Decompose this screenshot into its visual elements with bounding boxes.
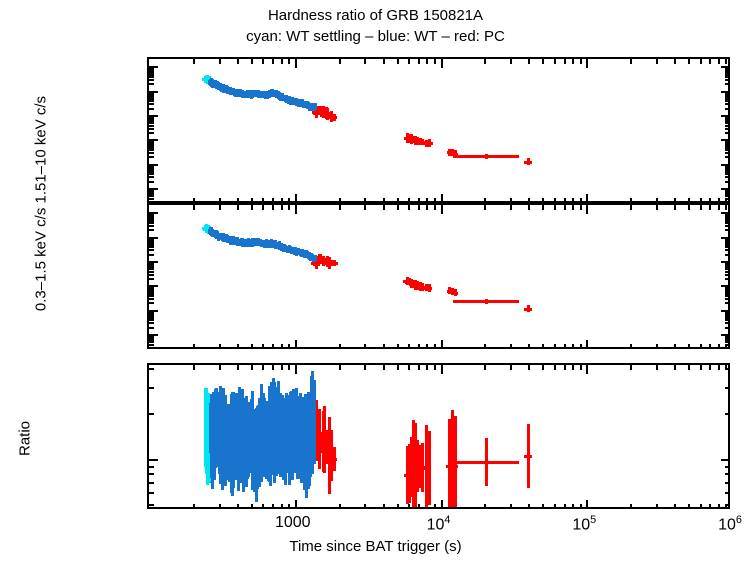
axis-tick bbox=[251, 504, 253, 509]
axis-tick bbox=[219, 344, 221, 349]
axis-tick bbox=[725, 338, 730, 340]
y-axis-label-counts: 0.3–1.5 keV c/s 1.51–10 keV c/s bbox=[33, 0, 50, 454]
axis-tick bbox=[237, 205, 239, 210]
x-tick-label: 105 bbox=[544, 515, 624, 533]
axis-tick bbox=[149, 152, 154, 154]
axis-tick bbox=[674, 59, 676, 64]
axis-tick bbox=[149, 492, 154, 494]
axis-tick bbox=[630, 205, 632, 210]
axis-tick bbox=[149, 341, 154, 343]
axis-tick bbox=[262, 344, 264, 349]
panel-hardness-ratio bbox=[147, 363, 730, 509]
axis-tick bbox=[339, 59, 341, 64]
axis-tick bbox=[554, 59, 556, 64]
axis-tick bbox=[272, 59, 274, 64]
axis-tick bbox=[725, 225, 730, 227]
axis-tick bbox=[426, 205, 428, 210]
axis-tick bbox=[149, 156, 154, 158]
axis-tick bbox=[408, 365, 410, 370]
axis-tick bbox=[149, 83, 154, 85]
axis-tick bbox=[149, 347, 154, 349]
axis-tick bbox=[441, 500, 443, 509]
axis-tick bbox=[554, 205, 556, 210]
axis-tick bbox=[484, 59, 486, 64]
axis-tick bbox=[149, 413, 154, 415]
axis-tick bbox=[725, 176, 730, 178]
axis-tick bbox=[586, 205, 588, 214]
axis-tick bbox=[149, 298, 154, 300]
axis-tick bbox=[149, 195, 154, 197]
axis-tick bbox=[725, 317, 730, 319]
axis-tick bbox=[383, 205, 385, 210]
y-axis-label-ratio: Ratio bbox=[17, 349, 34, 529]
axis-tick bbox=[149, 271, 154, 273]
axis-tick bbox=[408, 344, 410, 349]
axis-tick bbox=[630, 365, 632, 370]
axis-tick bbox=[656, 205, 658, 210]
axis-tick bbox=[725, 98, 730, 100]
axis-tick bbox=[656, 59, 658, 64]
axis-tick bbox=[688, 365, 690, 370]
axis-tick bbox=[149, 387, 154, 389]
axis-tick bbox=[262, 205, 264, 210]
data-point bbox=[333, 447, 336, 471]
axis-tick bbox=[149, 145, 154, 147]
axis-tick bbox=[149, 149, 154, 151]
axis-tick bbox=[580, 59, 582, 64]
axis-tick bbox=[149, 338, 154, 340]
axis-tick bbox=[434, 205, 436, 210]
axis-tick bbox=[397, 504, 399, 509]
axis-tick bbox=[580, 365, 582, 370]
axis-tick bbox=[700, 365, 702, 370]
axis-tick bbox=[572, 59, 574, 64]
panel-hard-band bbox=[147, 57, 730, 203]
axis-tick bbox=[586, 59, 588, 68]
axis-tick bbox=[725, 59, 727, 64]
axis-tick bbox=[674, 344, 676, 349]
axis-tick bbox=[725, 147, 730, 149]
axis-tick bbox=[272, 365, 274, 370]
axis-tick bbox=[149, 218, 154, 220]
axis-tick bbox=[725, 274, 730, 276]
axis-tick bbox=[580, 344, 582, 349]
axis-tick bbox=[725, 322, 730, 324]
axis-tick bbox=[339, 344, 341, 349]
axis-tick bbox=[149, 147, 154, 149]
axis-tick bbox=[149, 212, 158, 214]
axis-tick bbox=[149, 327, 154, 329]
axis-tick bbox=[725, 142, 730, 144]
axis-tick bbox=[725, 74, 730, 76]
axis-tick bbox=[418, 205, 420, 210]
data-point bbox=[428, 284, 431, 291]
axis-tick bbox=[688, 205, 690, 210]
axis-tick bbox=[725, 220, 730, 222]
axis-tick bbox=[725, 341, 730, 343]
axis-tick bbox=[725, 327, 730, 329]
axis-tick bbox=[418, 344, 420, 349]
axis-tick bbox=[149, 115, 158, 117]
x-tick-label: 106 bbox=[690, 515, 751, 533]
data-point bbox=[428, 431, 431, 506]
axis-tick bbox=[721, 261, 730, 263]
axis-tick bbox=[510, 365, 512, 370]
axis-tick bbox=[700, 59, 702, 64]
axis-tick bbox=[725, 344, 730, 346]
axis-tick bbox=[721, 164, 730, 166]
axis-tick bbox=[237, 365, 239, 370]
axis-tick bbox=[426, 59, 428, 64]
axis-tick bbox=[295, 340, 297, 349]
axis-tick bbox=[542, 504, 544, 509]
axis-tick bbox=[149, 176, 154, 178]
axis-tick bbox=[725, 103, 730, 105]
axis-tick bbox=[674, 205, 676, 210]
axis-tick bbox=[408, 504, 410, 509]
axis-tick bbox=[149, 100, 154, 102]
axis-tick bbox=[149, 249, 154, 251]
chart-canvas: Hardness ratio of GRB 150821A cyan: WT s… bbox=[0, 0, 751, 566]
axis-tick bbox=[721, 237, 730, 239]
axis-tick bbox=[219, 205, 221, 210]
axis-tick bbox=[149, 295, 154, 297]
axis-tick bbox=[528, 59, 530, 64]
axis-tick bbox=[434, 504, 436, 509]
axis-tick bbox=[149, 261, 158, 263]
axis-tick bbox=[725, 242, 730, 244]
axis-tick bbox=[272, 344, 274, 349]
data-point bbox=[313, 256, 316, 262]
axis-tick bbox=[725, 347, 730, 349]
axis-tick bbox=[700, 344, 702, 349]
x-tick-label: 1000 bbox=[253, 515, 333, 531]
axis-tick bbox=[542, 344, 544, 349]
axis-tick bbox=[408, 205, 410, 210]
axis-tick bbox=[528, 504, 530, 509]
data-point bbox=[333, 114, 336, 121]
axis-tick bbox=[149, 237, 158, 239]
axis-tick bbox=[339, 205, 341, 210]
x-axis-label: Time since BAT trigger (s) bbox=[0, 538, 751, 555]
axis-tick bbox=[725, 169, 730, 171]
panel-soft-band bbox=[147, 203, 730, 349]
axis-tick bbox=[542, 59, 544, 64]
axis-tick bbox=[281, 504, 283, 509]
axis-tick bbox=[281, 365, 283, 370]
axis-tick bbox=[364, 59, 366, 64]
axis-tick bbox=[237, 59, 239, 64]
axis-tick bbox=[418, 365, 420, 370]
axis-tick bbox=[725, 108, 730, 110]
axis-tick bbox=[281, 59, 283, 64]
axis-tick bbox=[528, 365, 530, 370]
axis-tick bbox=[725, 79, 730, 81]
axis-tick bbox=[441, 59, 443, 68]
axis-tick bbox=[725, 244, 730, 246]
axis-tick bbox=[149, 278, 154, 280]
axis-tick bbox=[364, 504, 366, 509]
axis-tick bbox=[725, 254, 730, 256]
axis-tick bbox=[725, 222, 730, 224]
axis-tick bbox=[718, 344, 720, 349]
axis-tick bbox=[219, 365, 221, 370]
axis-tick bbox=[709, 365, 711, 370]
axis-tick bbox=[383, 59, 385, 64]
axis-tick bbox=[725, 295, 730, 297]
x-tick-label: 104 bbox=[399, 515, 479, 533]
axis-tick bbox=[709, 59, 711, 64]
axis-tick bbox=[554, 365, 556, 370]
axis-tick bbox=[149, 169, 154, 171]
axis-tick bbox=[721, 66, 730, 68]
axis-tick bbox=[484, 344, 486, 349]
axis-tick bbox=[149, 334, 158, 336]
axis-tick bbox=[572, 365, 574, 370]
axis-tick bbox=[725, 145, 730, 147]
axis-tick bbox=[564, 205, 566, 210]
axis-tick bbox=[725, 83, 730, 85]
axis-tick bbox=[510, 205, 512, 210]
axis-tick bbox=[149, 103, 154, 105]
axis-tick bbox=[725, 278, 730, 280]
axis-tick bbox=[339, 365, 341, 370]
axis-tick bbox=[288, 504, 290, 509]
axis-tick bbox=[149, 254, 154, 256]
axis-tick bbox=[510, 344, 512, 349]
axis-tick bbox=[418, 59, 420, 64]
axis-tick bbox=[149, 459, 158, 461]
axis-tick bbox=[656, 344, 658, 349]
axis-tick bbox=[542, 365, 544, 370]
axis-tick bbox=[725, 69, 730, 71]
data-point bbox=[527, 424, 530, 488]
axis-tick bbox=[441, 340, 443, 349]
axis-tick bbox=[237, 344, 239, 349]
axis-tick bbox=[441, 205, 443, 214]
axis-tick bbox=[149, 473, 154, 475]
axis-tick bbox=[397, 344, 399, 349]
axis-tick bbox=[397, 205, 399, 210]
axis-tick bbox=[718, 504, 720, 509]
axis-tick bbox=[725, 96, 730, 98]
axis-tick bbox=[418, 504, 420, 509]
axis-tick bbox=[149, 242, 154, 244]
axis-tick bbox=[149, 302, 154, 304]
axis-tick bbox=[149, 74, 154, 76]
axis-tick bbox=[426, 365, 428, 370]
axis-tick bbox=[149, 142, 154, 144]
axis-tick bbox=[725, 171, 730, 173]
axis-tick bbox=[149, 69, 154, 71]
axis-tick bbox=[193, 205, 195, 210]
axis-tick bbox=[149, 91, 158, 93]
axis-tick bbox=[149, 164, 158, 166]
data-point bbox=[333, 260, 336, 266]
axis-tick bbox=[700, 504, 702, 509]
axis-tick bbox=[528, 205, 530, 210]
axis-tick bbox=[688, 504, 690, 509]
axis-tick bbox=[149, 125, 154, 127]
axis-tick bbox=[718, 205, 720, 210]
data-point bbox=[485, 438, 488, 486]
axis-tick bbox=[383, 504, 385, 509]
axis-tick bbox=[709, 504, 711, 509]
axis-tick bbox=[725, 492, 730, 494]
axis-tick bbox=[586, 365, 588, 374]
axis-tick bbox=[193, 504, 195, 509]
axis-tick bbox=[656, 365, 658, 370]
axis-tick bbox=[434, 59, 436, 64]
axis-tick bbox=[725, 205, 727, 210]
axis-tick bbox=[149, 192, 154, 194]
axis-tick bbox=[725, 72, 730, 74]
axis-tick bbox=[149, 315, 154, 317]
axis-tick bbox=[725, 100, 730, 102]
axis-tick bbox=[725, 368, 730, 370]
axis-tick bbox=[630, 59, 632, 64]
axis-tick bbox=[149, 229, 154, 231]
axis-tick bbox=[281, 205, 283, 210]
axis-tick bbox=[725, 125, 730, 127]
axis-tick bbox=[149, 268, 154, 270]
axis-tick bbox=[383, 344, 385, 349]
axis-tick bbox=[721, 188, 730, 190]
axis-tick bbox=[288, 205, 290, 210]
axis-tick bbox=[725, 152, 730, 154]
axis-tick bbox=[586, 194, 588, 203]
axis-tick bbox=[262, 504, 264, 509]
axis-tick bbox=[688, 59, 690, 64]
axis-tick bbox=[149, 122, 154, 124]
axis-tick bbox=[193, 59, 195, 64]
axis-tick bbox=[630, 344, 632, 349]
axis-tick bbox=[725, 291, 730, 293]
axis-tick bbox=[149, 466, 154, 468]
axis-tick bbox=[725, 319, 730, 321]
axis-tick bbox=[149, 319, 154, 321]
axis-tick bbox=[149, 288, 154, 290]
axis-tick bbox=[721, 115, 730, 117]
axis-tick bbox=[542, 205, 544, 210]
axis-tick bbox=[219, 504, 221, 509]
axis-tick bbox=[721, 459, 730, 461]
axis-tick bbox=[262, 59, 264, 64]
axis-tick bbox=[721, 334, 730, 336]
axis-tick bbox=[149, 171, 154, 173]
axis-tick bbox=[725, 181, 730, 183]
axis-tick bbox=[718, 365, 720, 370]
axis-tick bbox=[288, 344, 290, 349]
axis-tick bbox=[725, 128, 730, 130]
axis-tick bbox=[149, 198, 154, 200]
axis-tick bbox=[408, 59, 410, 64]
axis-tick bbox=[441, 365, 443, 374]
axis-tick bbox=[251, 344, 253, 349]
axis-tick bbox=[149, 72, 154, 74]
axis-tick bbox=[721, 212, 730, 214]
axis-tick bbox=[586, 340, 588, 349]
axis-tick bbox=[721, 91, 730, 93]
axis-tick bbox=[193, 365, 195, 370]
axis-tick bbox=[725, 265, 730, 267]
axis-tick bbox=[688, 344, 690, 349]
axis-tick bbox=[630, 504, 632, 509]
axis-tick bbox=[149, 188, 158, 190]
axis-tick bbox=[149, 119, 154, 121]
axis-tick bbox=[251, 205, 253, 210]
axis-tick bbox=[149, 79, 154, 81]
axis-tick bbox=[674, 504, 676, 509]
axis-tick bbox=[149, 76, 154, 78]
axis-tick bbox=[725, 302, 730, 304]
axis-tick bbox=[700, 205, 702, 210]
axis-tick bbox=[262, 365, 264, 370]
axis-tick bbox=[149, 181, 154, 183]
axis-tick bbox=[149, 222, 154, 224]
axis-tick bbox=[725, 413, 730, 415]
axis-tick bbox=[149, 274, 154, 276]
axis-tick bbox=[288, 365, 290, 370]
axis-tick bbox=[721, 310, 730, 312]
axis-tick bbox=[709, 344, 711, 349]
data-point bbox=[313, 106, 316, 111]
axis-tick bbox=[149, 322, 154, 324]
axis-tick bbox=[295, 500, 297, 509]
axis-tick bbox=[725, 387, 730, 389]
axis-tick bbox=[339, 504, 341, 509]
axis-tick bbox=[237, 504, 239, 509]
axis-tick bbox=[149, 246, 154, 248]
axis-tick bbox=[725, 192, 730, 194]
axis-tick bbox=[149, 317, 154, 319]
axis-tick bbox=[580, 504, 582, 509]
axis-tick bbox=[725, 315, 730, 317]
data-point bbox=[527, 158, 530, 165]
axis-tick bbox=[572, 504, 574, 509]
axis-tick bbox=[251, 365, 253, 370]
axis-tick bbox=[725, 132, 730, 134]
axis-tick bbox=[725, 173, 730, 175]
axis-tick bbox=[193, 344, 195, 349]
axis-tick bbox=[725, 198, 730, 200]
axis-tick bbox=[149, 244, 154, 246]
axis-tick bbox=[725, 119, 730, 121]
axis-tick bbox=[725, 215, 730, 217]
axis-tick bbox=[725, 271, 730, 273]
axis-tick bbox=[564, 504, 566, 509]
axis-tick bbox=[149, 98, 154, 100]
chart-subtitle: cyan: WT settling – blue: WT – red: PC bbox=[0, 28, 751, 45]
axis-tick bbox=[528, 344, 530, 349]
axis-tick bbox=[725, 195, 730, 197]
axis-tick bbox=[149, 132, 154, 134]
axis-tick bbox=[149, 504, 154, 506]
axis-tick bbox=[484, 205, 486, 210]
axis-tick bbox=[295, 194, 297, 203]
axis-tick bbox=[725, 76, 730, 78]
axis-tick bbox=[580, 205, 582, 210]
axis-tick bbox=[484, 504, 486, 509]
axis-tick bbox=[725, 149, 730, 151]
axis-tick bbox=[281, 344, 283, 349]
axis-tick bbox=[397, 59, 399, 64]
axis-tick bbox=[295, 365, 297, 374]
axis-tick bbox=[149, 344, 154, 346]
axis-tick bbox=[725, 122, 730, 124]
axis-tick bbox=[718, 59, 720, 64]
axis-tick bbox=[656, 504, 658, 509]
